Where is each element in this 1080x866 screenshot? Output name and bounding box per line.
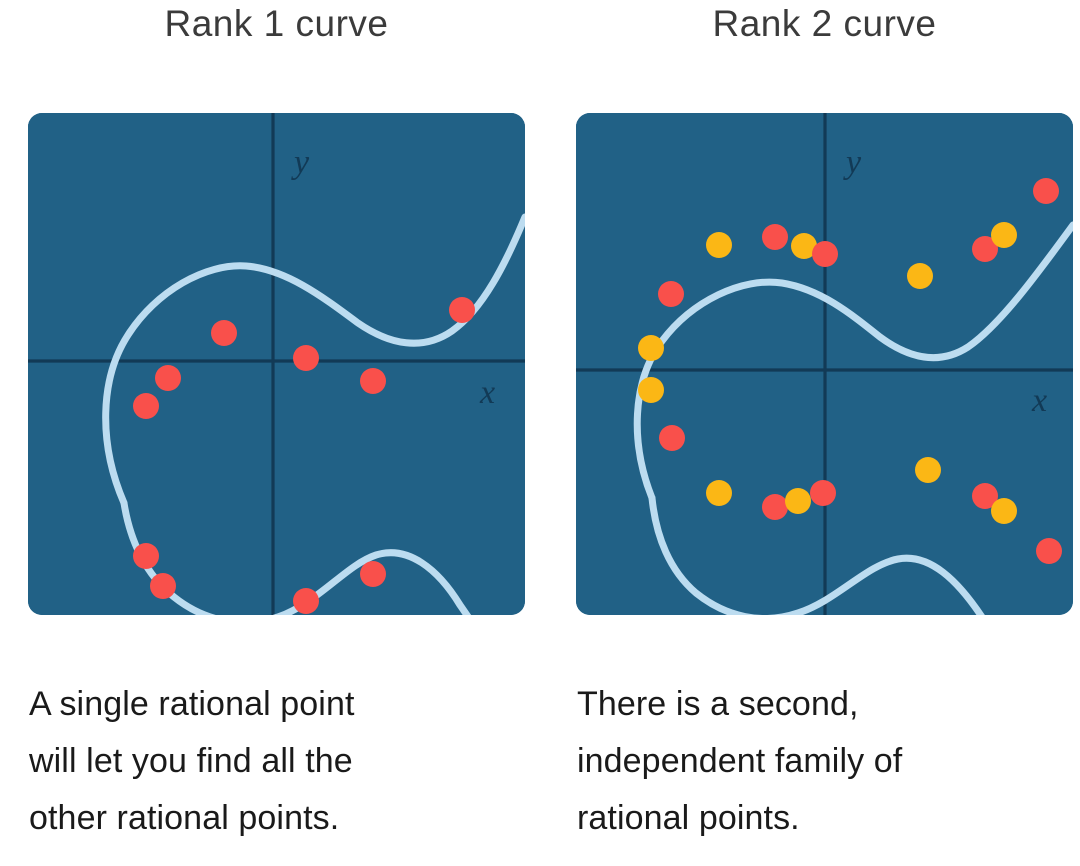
page-root: Rank 1 curve y x A single rational point [0, 0, 1080, 866]
rational-point-red [659, 425, 685, 451]
second-family-point-yellow [706, 232, 732, 258]
rational-point-red [762, 494, 788, 520]
x-axis-label: x [479, 374, 495, 411]
caption-rank2: There is a second, independent family of… [577, 676, 1077, 847]
rational-point-red [810, 480, 836, 506]
second-family-point-yellow [991, 222, 1017, 248]
caption-line: rational points. [577, 790, 1077, 847]
second-family-point-yellow [785, 488, 811, 514]
plot-rank2-svg: y x [576, 113, 1073, 615]
rational-point-red [155, 365, 181, 391]
second-family-point-yellow [638, 377, 664, 403]
second-family-point-yellow [991, 498, 1017, 524]
panel-title-rank2: Rank 2 curve [576, 0, 1073, 48]
caption-line: other rational points. [29, 790, 529, 847]
rational-point-red [211, 320, 237, 346]
x-axis-label: x [1031, 382, 1047, 419]
rational-point-red [133, 393, 159, 419]
rational-point-red [762, 224, 788, 250]
caption-line: will let you find all the [29, 733, 529, 790]
plot-rank1-curve: y x [28, 113, 525, 615]
caption-rank1: A single rational point will let you fin… [29, 676, 529, 847]
plot-rank2-curve: y x [576, 113, 1073, 615]
panel-title-rank1: Rank 1 curve [28, 0, 525, 48]
caption-line: independent family of [577, 733, 1077, 790]
rational-point-red [150, 573, 176, 599]
rational-point-red [1033, 178, 1059, 204]
caption-line: A single rational point [29, 676, 529, 733]
rational-point-red [449, 297, 475, 323]
rational-point-red [360, 561, 386, 587]
rational-point-red [1036, 538, 1062, 564]
rational-point-red [293, 345, 319, 371]
rational-point-red [658, 281, 684, 307]
second-family-point-yellow [907, 263, 933, 289]
y-axis-label: y [291, 144, 310, 181]
caption-line: There is a second, [577, 676, 1077, 733]
y-axis-label: y [843, 144, 862, 181]
plot-background [28, 113, 525, 615]
second-family-point-yellow [915, 457, 941, 483]
second-family-point-yellow [706, 480, 732, 506]
plot-rank1-svg: y x [28, 113, 525, 615]
second-family-point-yellow [638, 335, 664, 361]
rational-point-red [133, 543, 159, 569]
rational-point-red [812, 241, 838, 267]
rational-point-red [293, 588, 319, 614]
rational-point-red [360, 368, 386, 394]
